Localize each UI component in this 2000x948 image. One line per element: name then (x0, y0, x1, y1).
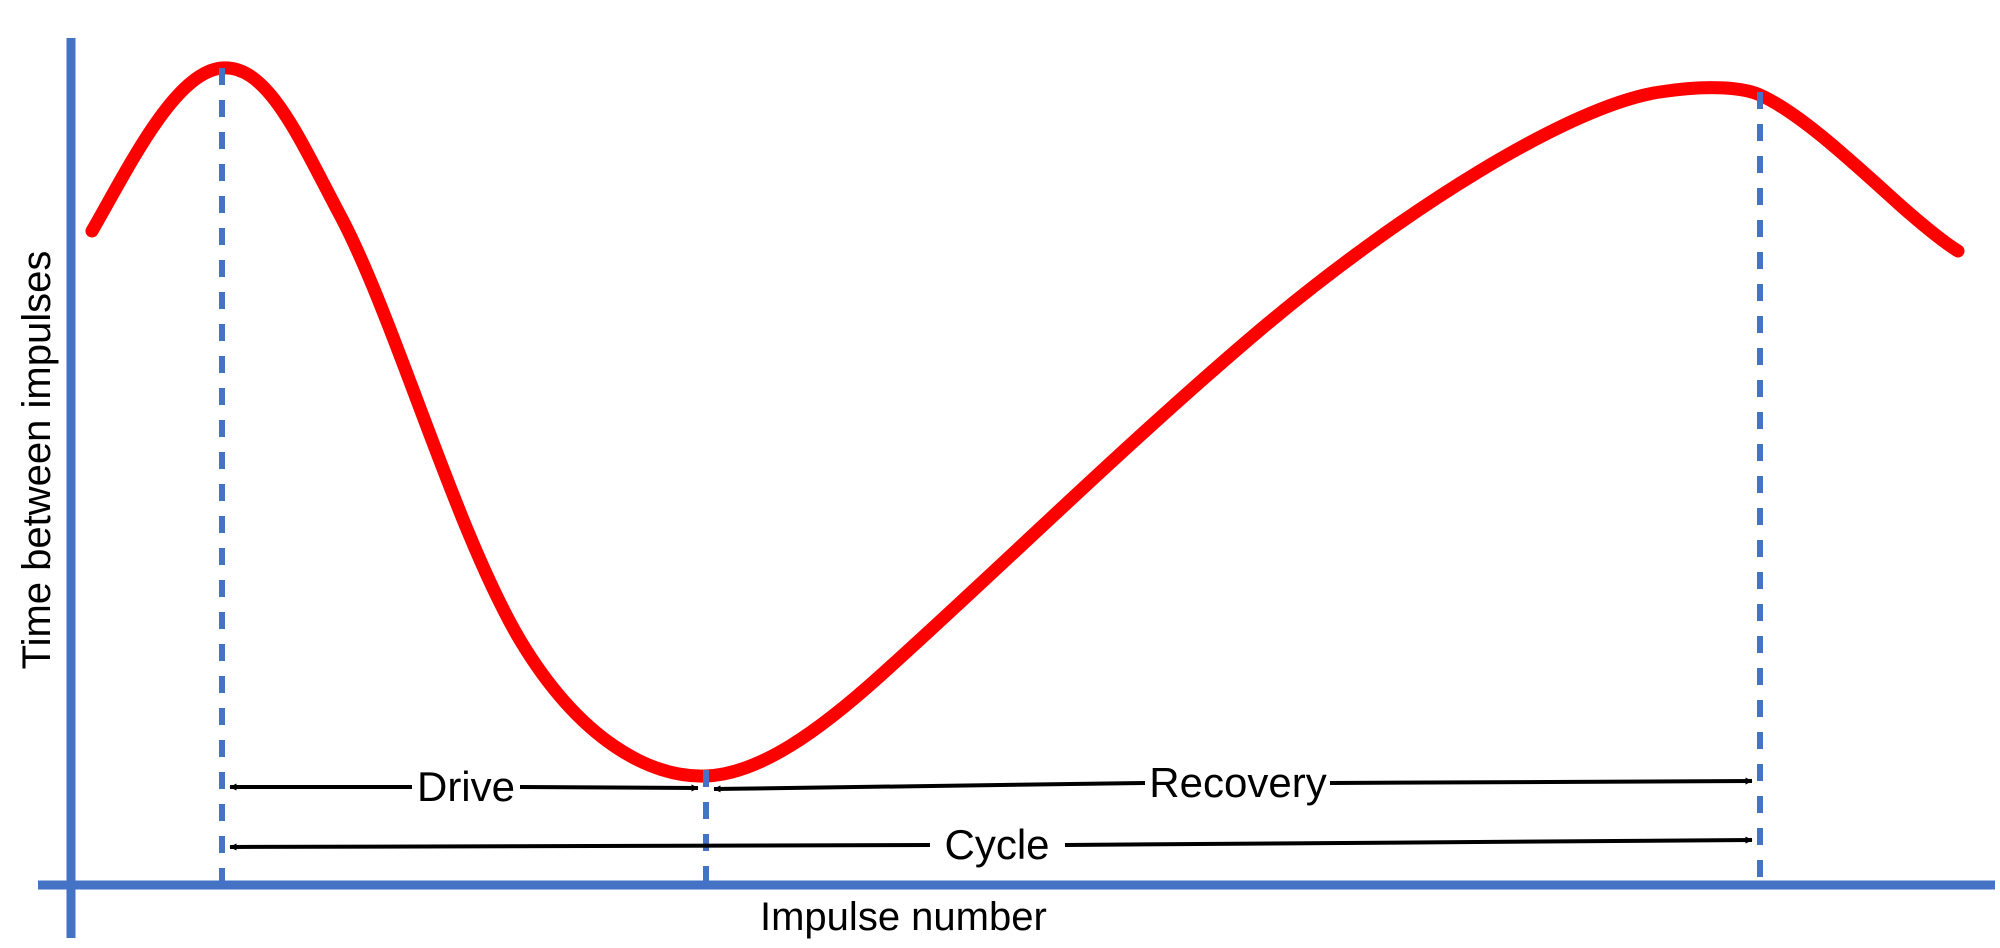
annotation-recovery: Recovery (714, 759, 1752, 806)
cycle-arrow-right-segment (1065, 840, 1752, 845)
drive-arrow-right-segment (520, 787, 698, 788)
chart-canvas: Drive Recovery Cycle Time between impuls… (0, 0, 2000, 948)
annotation-cycle: Cycle (230, 821, 1752, 868)
y-axis-title: Time between impulses (15, 251, 59, 670)
chart-figure: Drive Recovery Cycle Time between impuls… (0, 0, 2000, 948)
data-curve-group (92, 68, 1958, 776)
x-axis-title: Impulse number (760, 895, 1047, 939)
recovery-arrow-left-segment (714, 783, 1145, 789)
axes (38, 38, 1995, 938)
cycle-arrow-left-segment (230, 845, 930, 847)
annotation-drive: Drive (230, 763, 698, 810)
recovery-arrow-right-segment (1330, 781, 1752, 783)
drive-label: Drive (417, 763, 515, 810)
cycle-label: Cycle (944, 821, 1049, 868)
time-between-impulses-curve (92, 68, 1958, 776)
recovery-label: Recovery (1149, 759, 1326, 806)
